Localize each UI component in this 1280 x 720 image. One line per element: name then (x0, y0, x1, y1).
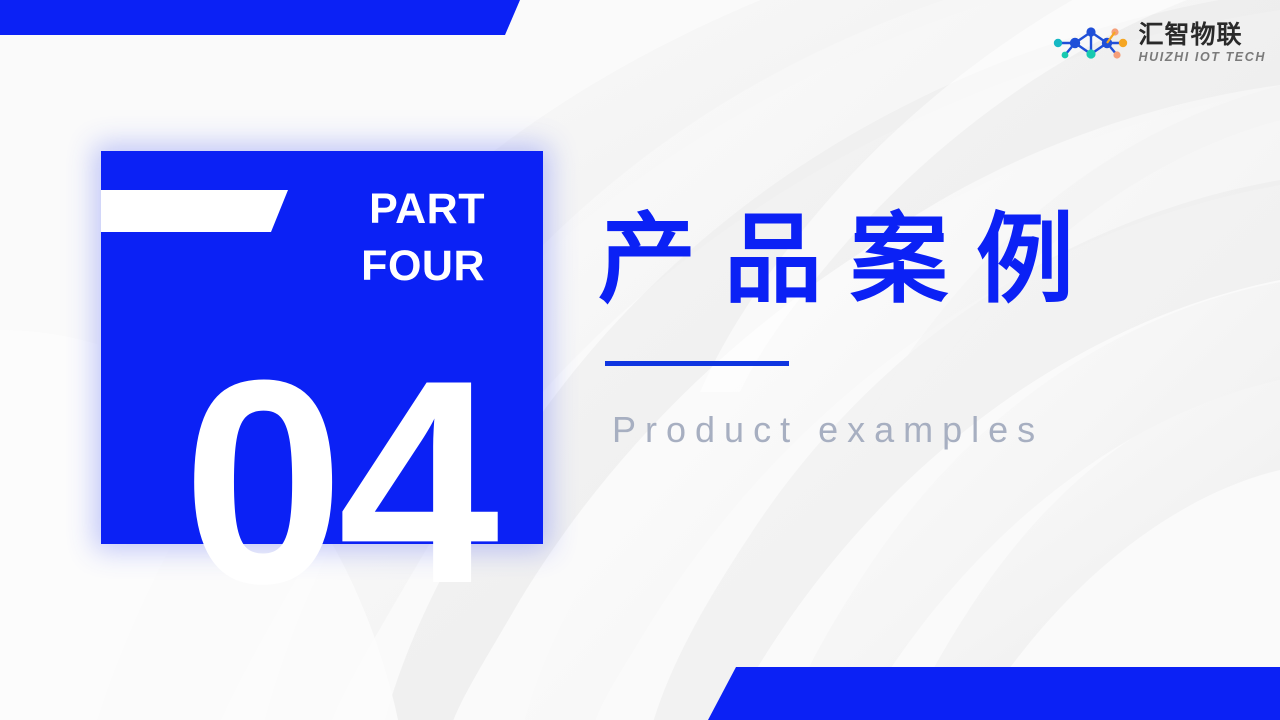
slide-canvas: PART FOUR 04 产品案例 Product examples (0, 0, 1280, 720)
part-label-line2: FOUR (205, 238, 485, 295)
logo-english-name: HUIZHI IOT TECH (1139, 51, 1266, 64)
page-subtitle: Product examples (612, 408, 1102, 452)
top-left-accent-bar (0, 0, 520, 35)
section-number: 04 (101, 337, 543, 627)
logo-chinese-name: 汇智物联 (1139, 22, 1266, 47)
bottom-right-accent-bar (700, 667, 1280, 720)
section-number-panel: PART FOUR 04 (101, 151, 543, 544)
molecule-network-icon (1049, 23, 1133, 63)
company-logo: 汇智物联 HUIZHI IOT TECH (1049, 22, 1266, 64)
title-underline-rule (605, 361, 789, 366)
logo-text-block: 汇智物联 HUIZHI IOT TECH (1139, 22, 1266, 64)
part-label: PART FOUR (205, 181, 485, 295)
part-label-line1: PART (205, 181, 485, 238)
page-title: 产品案例 (598, 205, 1102, 315)
heading-block: 产品案例 Product examples (598, 205, 1102, 452)
